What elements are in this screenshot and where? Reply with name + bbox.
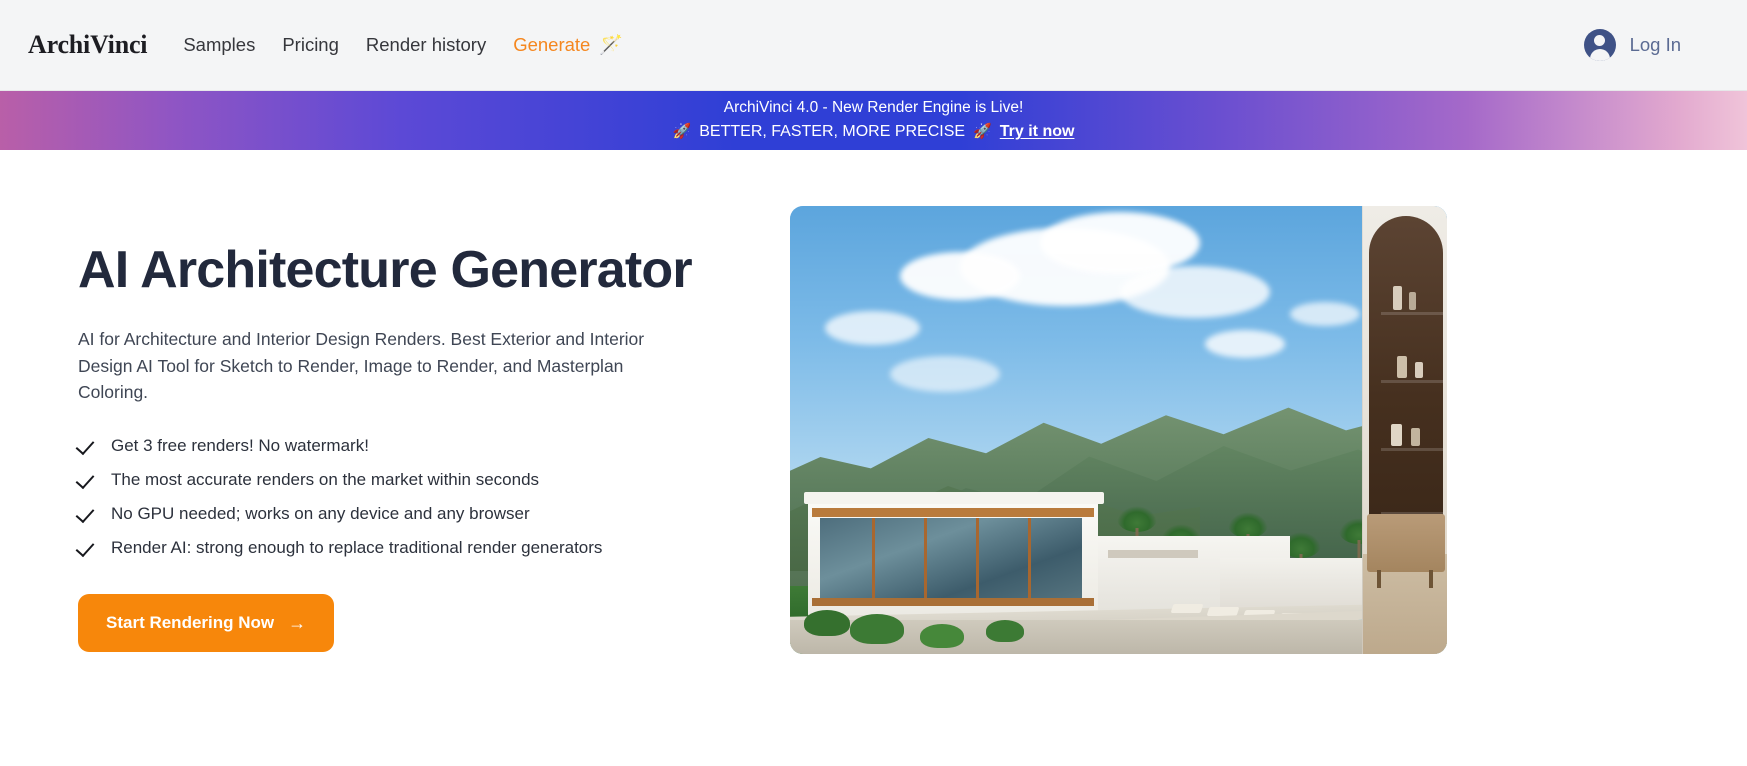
shrub — [986, 620, 1024, 642]
nav-link-samples[interactable]: Samples — [183, 34, 255, 56]
page-title: AI Architecture Generator — [78, 242, 790, 298]
promo-banner-cta-link[interactable]: Try it now — [1000, 121, 1075, 143]
cabinet-leg — [1429, 570, 1433, 588]
hero-subtitle: AI for Architecture and Interior Design … — [78, 326, 688, 406]
feature-label: Render AI: strong enough to replace trad… — [111, 538, 602, 558]
check-icon — [78, 538, 97, 557]
feature-list: Get 3 free renders! No watermark! The mo… — [78, 436, 790, 558]
window-mullion — [976, 518, 979, 600]
promo-banner: ArchiVinci 4.0 - New Render Engine is Li… — [0, 91, 1747, 150]
arrow-right-icon: → — [288, 614, 306, 632]
cloud-shape — [1205, 330, 1285, 358]
cloud-shape — [825, 311, 920, 345]
cloud-shape — [890, 356, 1000, 392]
magic-wand-icon: 🪄 — [599, 36, 623, 55]
feature-label: No GPU needed; works on any device and a… — [111, 504, 530, 524]
site-header: ArchiVinci Samples Pricing Render histor… — [0, 0, 1747, 91]
decor-object — [1411, 428, 1420, 446]
villa-beam-top — [812, 508, 1094, 517]
rocket-icon-left: 🚀 — [673, 122, 692, 142]
cta-label: Start Rendering Now — [106, 613, 274, 633]
arched-shelving-unit — [1369, 216, 1443, 546]
decor-object — [1397, 356, 1407, 378]
cloud-shape — [1290, 302, 1360, 326]
nav-link-generate[interactable]: Generate 🪄 — [513, 34, 623, 56]
main-navigation: Samples Pricing Render history Generate … — [183, 34, 623, 56]
brand-logo[interactable]: ArchiVinci — [28, 30, 147, 60]
cabinet-leg — [1377, 570, 1381, 588]
nav-link-pricing[interactable]: Pricing — [282, 34, 339, 56]
villa-glass-facade — [820, 518, 1082, 600]
feature-label: The most accurate renders on the market … — [111, 470, 539, 490]
hero-content: AI Architecture Generator AI for Archite… — [0, 206, 790, 766]
cloud-shape — [900, 252, 1020, 300]
shelf — [1381, 448, 1443, 451]
promo-banner-subline: 🚀 BETTER, FASTER, MORE PRECISE 🚀 Try it … — [673, 121, 1075, 143]
decor-object — [1409, 292, 1416, 310]
pergola-roof — [1108, 550, 1198, 558]
login-label: Log In — [1630, 34, 1681, 56]
promo-banner-headline: ArchiVinci 4.0 - New Render Engine is Li… — [724, 98, 1024, 119]
feature-label: Get 3 free renders! No watermark! — [111, 436, 369, 456]
check-icon — [78, 504, 97, 523]
list-item: Get 3 free renders! No watermark! — [78, 436, 790, 456]
decor-object — [1415, 362, 1423, 378]
nav-generate-label: Generate — [513, 34, 590, 56]
villa-beam-bottom — [812, 598, 1094, 606]
decor-object — [1391, 424, 1402, 446]
shrub — [804, 610, 850, 636]
list-item: The most accurate renders on the market … — [78, 470, 790, 490]
check-icon — [78, 470, 97, 489]
decor-object — [1393, 286, 1402, 310]
window-mullion — [1028, 518, 1031, 600]
rocket-icon-right: 🚀 — [973, 122, 992, 142]
shelf — [1381, 380, 1443, 383]
lounge-chair — [1171, 604, 1204, 613]
cloud-shape — [1040, 212, 1200, 274]
check-icon — [78, 436, 97, 455]
start-rendering-button[interactable]: Start Rendering Now → — [78, 594, 334, 652]
interior-render-strip — [1362, 206, 1447, 654]
login-button[interactable]: Log In — [1584, 29, 1717, 61]
hero-visual — [790, 206, 1747, 766]
window-mullion — [872, 518, 875, 600]
list-item: No GPU needed; works on any device and a… — [78, 504, 790, 524]
list-item: Render AI: strong enough to replace trad… — [78, 538, 790, 558]
shrub — [850, 614, 904, 644]
hero-render-image — [790, 206, 1447, 654]
window-mullion — [924, 518, 927, 600]
sideboard-cabinet — [1367, 514, 1445, 572]
promo-banner-benefits: BETTER, FASTER, MORE PRECISE — [699, 121, 965, 143]
shrub — [920, 624, 964, 648]
shelf — [1381, 312, 1443, 315]
nav-link-render-history[interactable]: Render history — [366, 34, 486, 56]
villa-roof — [804, 492, 1104, 504]
user-avatar-icon — [1584, 29, 1616, 61]
hero-section: AI Architecture Generator AI for Archite… — [0, 150, 1747, 766]
cloud-shape — [1120, 266, 1270, 318]
